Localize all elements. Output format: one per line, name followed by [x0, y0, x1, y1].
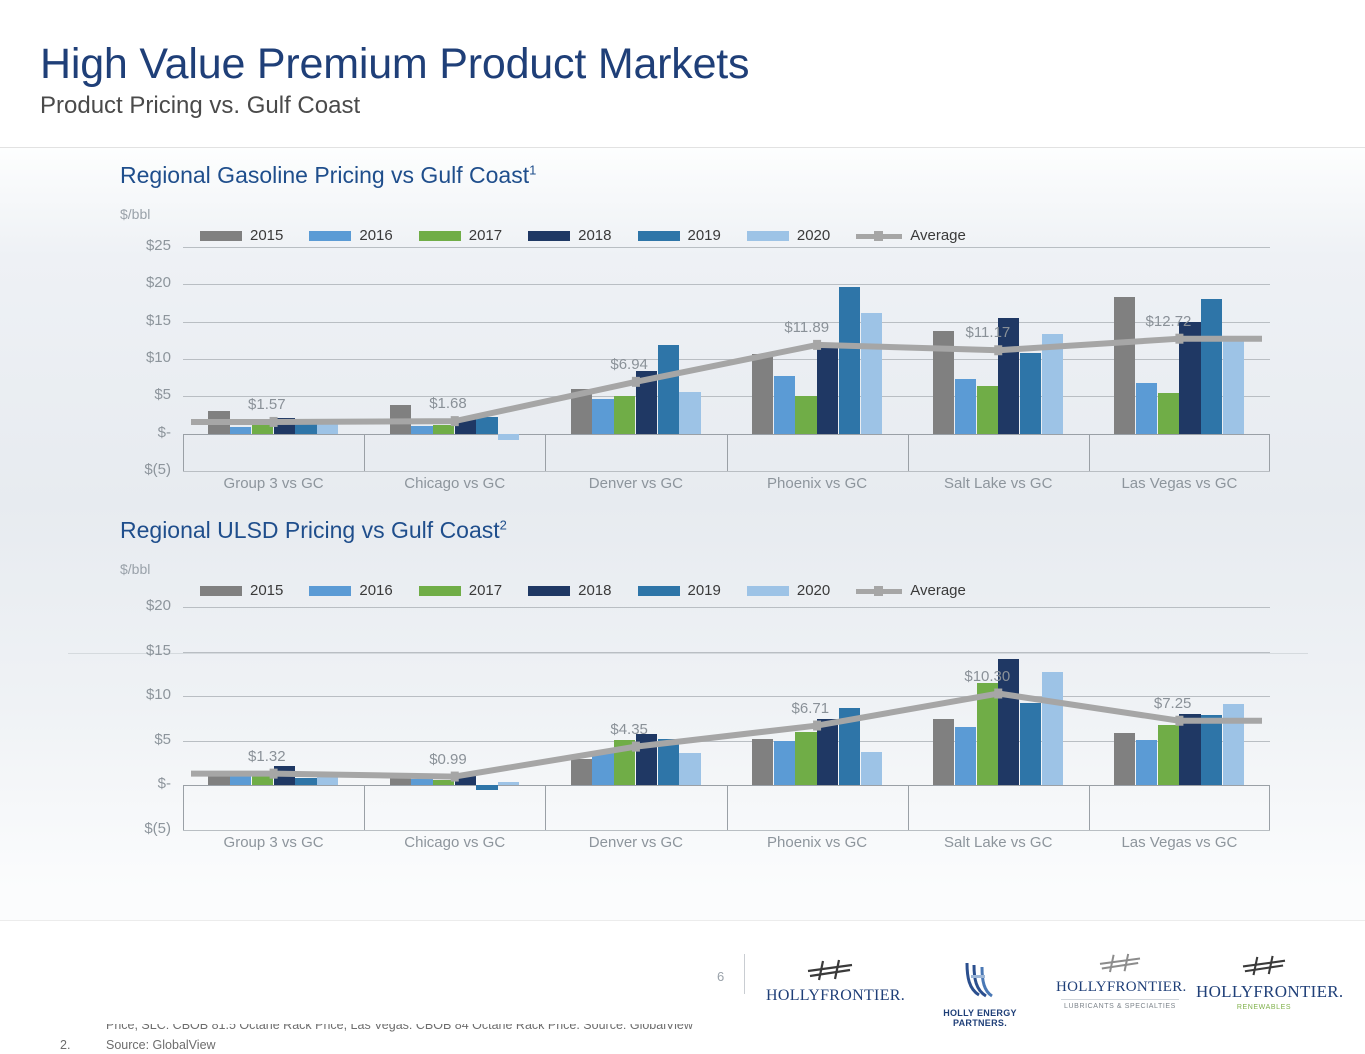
x-axis-category-label: Group 3 vs GC: [183, 834, 364, 851]
logo-wordmark: HOLLY ENERGY PARTNERS.: [924, 1008, 1036, 1028]
legend-swatch-icon: [528, 231, 570, 241]
x-axis-category-label: Phoenix vs GC: [727, 834, 908, 851]
y-axis-unit-gasoline: $/bbl: [120, 206, 150, 222]
legend-swatch-icon: [419, 231, 461, 241]
bar-2016-denver: [592, 399, 613, 433]
legend-swatch-icon: [638, 586, 680, 596]
legend-item-2017[interactable]: 2017: [419, 227, 502, 244]
logo-wordmark: HOLLYFRONTIER.: [1196, 982, 1332, 1002]
x-axis-category-label: Salt Lake vs GC: [908, 834, 1089, 851]
bar-2018-chicago: [455, 419, 476, 434]
page-number: 6: [717, 969, 724, 984]
bar-2018-group: [274, 766, 295, 786]
logo-subtext: RENEWABLES: [1196, 1004, 1332, 1011]
bar-2018-las: [1179, 714, 1200, 785]
bar-2020-group: [317, 777, 338, 785]
bar-2017-las: [1158, 725, 1179, 786]
average-value-label: $1.68: [395, 395, 467, 412]
bar-2018-denver: [636, 734, 657, 786]
bar-2015-group: [208, 411, 229, 433]
legend-item-2018[interactable]: 2018: [528, 227, 611, 244]
x-axis-tick: [364, 785, 365, 830]
bar-2017-salt: [977, 386, 998, 434]
legend-label: 2015: [250, 582, 283, 599]
y-axis-tick-label: $5: [105, 386, 171, 403]
y-axis-tick-label: $5: [105, 731, 171, 748]
gridline: [183, 652, 1270, 653]
logo-hollyfrontier-renewables: HOLLYFRONTIER. RENEWABLES: [1196, 955, 1332, 1011]
x-axis-category-label: Phoenix vs GC: [727, 475, 908, 492]
footnote-text: Source: GlobalView: [106, 1036, 1310, 1054]
hollyfrontier-mark-icon: [806, 959, 854, 981]
bar-2020-denver: [679, 753, 700, 785]
average-value-label: $0.99: [395, 751, 467, 768]
bar-2016-chicago: [411, 426, 432, 433]
gridline: [183, 741, 1270, 742]
x-axis-category-label: Las Vegas vs GC: [1089, 475, 1270, 492]
bar-2019-chicago: [476, 417, 497, 433]
bar-2017-group: [252, 776, 273, 786]
average-value-label: $1.32: [214, 748, 286, 765]
chart-title-ulsd: Regional ULSD Pricing vs Gulf Coast2: [120, 517, 507, 544]
legend-item-average[interactable]: Average: [856, 227, 966, 244]
bar-2018-group: [274, 418, 295, 434]
average-value-label: $6.71: [757, 700, 829, 717]
bar-2015-denver: [571, 759, 592, 786]
bar-2020-las: [1223, 337, 1244, 434]
bar-2018-denver: [636, 371, 657, 434]
x-axis-category-label: Group 3 vs GC: [183, 475, 364, 492]
chart-ulsd: Regional ULSD Pricing vs Gulf Coast2 $/b…: [0, 503, 1365, 843]
bar-2015-las: [1114, 733, 1135, 786]
bar-2016-salt: [955, 379, 976, 434]
legend-swatch-icon: [528, 586, 570, 596]
x-axis-tick: [183, 434, 184, 471]
page-subtitle: Product Pricing vs. Gulf Coast: [40, 92, 360, 120]
legend-swatch-icon: [200, 586, 242, 596]
chart-title-text: Regional ULSD Pricing vs Gulf Coast: [120, 517, 500, 543]
gridline: [183, 607, 1270, 608]
bar-2015-salt: [933, 331, 954, 433]
legend-label: 2018: [578, 582, 611, 599]
gridline: [183, 284, 1270, 285]
legend-label: 2017: [469, 227, 502, 244]
legend-swatch-icon: [309, 231, 351, 241]
legend-item-2020[interactable]: 2020: [747, 227, 830, 244]
y-axis-tick-label: $25: [105, 237, 171, 254]
bar-2019-salt: [1020, 353, 1041, 434]
logo-hollyfrontier-lubricants: HOLLYFRONTIER. LUBRICANTS & SPECIALTIES: [1056, 953, 1184, 1010]
x-axis-category-label: Denver vs GC: [545, 475, 726, 492]
bar-2015-salt: [933, 719, 954, 785]
x-axis-tick: [1269, 785, 1270, 830]
x-axis-category-label: Las Vegas vs GC: [1089, 834, 1270, 851]
footnote-number: 2.: [60, 1036, 106, 1054]
slide-footer: 6 HOLLYFRONTIER. HOLLY ENERGY PARTNERS.: [0, 920, 1365, 1024]
bar-2019-las: [1201, 715, 1222, 785]
legend-average-marker-icon: [856, 585, 902, 597]
y-axis-unit-ulsd: $/bbl: [120, 561, 150, 577]
x-axis-tick: [545, 434, 546, 471]
legend-label: 2018: [578, 227, 611, 244]
legend-average-marker-icon: [856, 230, 902, 242]
legend-item-2017[interactable]: 2017: [419, 582, 502, 599]
plot-area-ulsd: $20$15$10$5$-$(5)Group 3 vs GCChicago vs…: [183, 607, 1270, 830]
bar-2020-phoenix: [861, 752, 882, 785]
gridline: [183, 696, 1270, 697]
hollyfrontier-mark-icon: [1098, 953, 1142, 973]
bar-2020-salt: [1042, 672, 1063, 785]
chart-title-superscript: 2: [500, 517, 507, 532]
hep-mark-icon: [959, 959, 1001, 999]
legend-swatch-icon: [638, 231, 680, 241]
y-axis-tick-label: $20: [105, 597, 171, 614]
x-axis-tick: [545, 785, 546, 830]
average-value-label: $4.35: [576, 721, 648, 738]
plot-area-gasoline: $25$20$15$10$5$-$(5)Group 3 vs GCChicago…: [183, 247, 1270, 471]
y-axis-tick-label: $20: [105, 274, 171, 291]
x-axis-tick: [183, 785, 184, 830]
legend-item-2015[interactable]: 2015: [200, 582, 283, 599]
legend-swatch-icon: [747, 231, 789, 241]
legend-label: 2016: [359, 582, 392, 599]
bar-2020-group: [317, 423, 338, 433]
bar-2017-salt: [977, 683, 998, 786]
slide-header: High Value Premium Product Markets Produ…: [0, 0, 1365, 148]
y-axis-tick-label: $10: [105, 349, 171, 366]
bar-2016-phoenix: [774, 741, 795, 786]
bar-2016-group: [230, 427, 251, 434]
x-axis-tick: [1089, 785, 1090, 830]
legend-label: 2019: [688, 582, 721, 599]
gridline: [183, 396, 1270, 397]
legend-label: 2016: [359, 227, 392, 244]
legend-swatch-icon: [747, 586, 789, 596]
average-value-label: $12.72: [1119, 313, 1191, 330]
bar-2020-phoenix: [861, 313, 882, 433]
y-axis-tick-label: $-: [105, 775, 171, 792]
chart-title-superscript: 1: [529, 162, 536, 177]
legend-swatch-icon: [309, 586, 351, 596]
y-axis-tick-label: $15: [105, 312, 171, 329]
y-axis-tick-label: $10: [105, 686, 171, 703]
logo-hollyfrontier: HOLLYFRONTIER.: [766, 959, 894, 1005]
slide: High Value Premium Product Markets Produ…: [0, 0, 1365, 1024]
logo-rule: [1061, 999, 1179, 1000]
x-axis-tick: [908, 785, 909, 830]
logo-subtext: LUBRICANTS & SPECIALTIES: [1056, 1003, 1184, 1010]
bar-2019-chicago: [476, 785, 497, 789]
bar-2019-salt: [1020, 703, 1041, 785]
bar-2017-chicago: [433, 425, 454, 433]
bar-2018-las: [1179, 322, 1200, 434]
bar-2019-las: [1201, 299, 1222, 433]
logo-holly-energy-partners: HOLLY ENERGY PARTNERS.: [924, 959, 1036, 1028]
x-axis-category-label: Chicago vs GC: [364, 475, 545, 492]
average-value-label: $6.94: [576, 356, 648, 373]
legend-item-2016[interactable]: 2016: [309, 227, 392, 244]
legend-label: 2017: [469, 582, 502, 599]
chart-title-text: Regional Gasoline Pricing vs Gulf Coast: [120, 162, 529, 188]
bar-2018-phoenix: [817, 348, 838, 434]
legend-label: 2019: [688, 227, 721, 244]
legend-swatch-icon: [200, 231, 242, 241]
x-axis-tick: [364, 434, 365, 471]
legend-label: Average: [910, 227, 966, 244]
bar-2019-group: [295, 421, 316, 434]
logo-wordmark: HOLLYFRONTIER.: [766, 987, 894, 1005]
y-axis-tick-label: $(5): [105, 820, 171, 837]
bar-2015-group: [208, 774, 229, 786]
average-value-label: $10.30: [938, 668, 1010, 685]
chart-gasoline: Regional Gasoline Pricing vs Gulf Coast1…: [0, 148, 1365, 488]
legend-label: 2020: [797, 582, 830, 599]
x-axis-tick: [727, 434, 728, 471]
bar-2017-denver: [614, 396, 635, 434]
footnote-item: 2. Source: GlobalView: [60, 1036, 1310, 1054]
bar-2017-denver: [614, 740, 635, 785]
legend-item-2016[interactable]: 2016: [309, 582, 392, 599]
chart-title-gasoline: Regional Gasoline Pricing vs Gulf Coast1: [120, 162, 536, 189]
bar-2020-denver: [679, 392, 700, 434]
bar-2016-salt: [955, 727, 976, 786]
bar-2015-phoenix: [752, 354, 773, 434]
bar-2018-phoenix: [817, 719, 838, 786]
bar-2015-denver: [571, 389, 592, 434]
bar-2019-group: [295, 778, 316, 785]
slide-body: Regional Gasoline Pricing vs Gulf Coast1…: [0, 148, 1365, 920]
bar-2017-chicago: [433, 780, 454, 785]
average-value-label: $11.17: [938, 324, 1010, 341]
legend-gasoline: 201520162017201820192020Average: [200, 227, 966, 244]
bar-2018-chicago: [455, 774, 476, 786]
bar-2020-salt: [1042, 334, 1063, 434]
footer-divider: [744, 954, 745, 994]
bar-2017-phoenix: [795, 732, 816, 786]
average-value-label: $1.57: [214, 396, 286, 413]
legend-label: 2015: [250, 227, 283, 244]
bar-2016-phoenix: [774, 376, 795, 433]
x-axis-tick: [908, 434, 909, 471]
gridline: [183, 830, 1270, 831]
bar-2016-chicago: [411, 779, 432, 785]
legend-item-2015[interactable]: 2015: [200, 227, 283, 244]
gridline: [183, 322, 1270, 323]
legend-item-2020[interactable]: 2020: [747, 582, 830, 599]
x-axis-tick: [1089, 434, 1090, 471]
bar-2019-phoenix: [839, 287, 860, 434]
gridline: [183, 359, 1270, 360]
bar-2015-phoenix: [752, 739, 773, 785]
average-value-label: $11.89: [757, 319, 829, 336]
bar-2016-las: [1136, 383, 1157, 434]
page-title: High Value Premium Product Markets: [40, 40, 749, 89]
bar-2016-las: [1136, 740, 1157, 785]
bar-2017-las: [1158, 393, 1179, 434]
legend-item-average[interactable]: Average: [856, 582, 966, 599]
bar-2015-chicago: [390, 775, 411, 786]
legend-swatch-icon: [419, 586, 461, 596]
x-axis-category-label: Salt Lake vs GC: [908, 475, 1089, 492]
legend-item-2019[interactable]: 2019: [638, 582, 721, 599]
logo-wordmark: HOLLYFRONTIER.: [1056, 979, 1184, 996]
gridline: [183, 471, 1270, 472]
bar-2019-denver: [658, 739, 679, 785]
bar-2016-group: [230, 776, 251, 785]
bar-2017-phoenix: [795, 396, 816, 433]
y-axis-tick-label: $15: [105, 642, 171, 659]
legend-item-2019[interactable]: 2019: [638, 227, 721, 244]
bar-2019-phoenix: [839, 708, 860, 786]
y-axis-tick-label: $(5): [105, 461, 171, 478]
x-axis-category-label: Denver vs GC: [545, 834, 726, 851]
y-axis-tick-label: $-: [105, 424, 171, 441]
bar-2020-chicago: [498, 782, 519, 786]
legend-label: 2020: [797, 227, 830, 244]
bar-2016-denver: [592, 753, 613, 785]
bar-2017-group: [252, 424, 273, 434]
hollyfrontier-mark-icon: [1241, 955, 1287, 976]
legend-ulsd: 201520162017201820192020Average: [200, 582, 966, 599]
bar-2019-denver: [658, 345, 679, 434]
bar-2020-las: [1223, 704, 1244, 785]
x-axis-tick: [727, 785, 728, 830]
legend-item-2018[interactable]: 2018: [528, 582, 611, 599]
legend-label: Average: [910, 582, 966, 599]
average-value-label: $7.25: [1119, 695, 1191, 712]
x-axis-tick: [1269, 434, 1270, 471]
bar-2020-chicago: [498, 434, 519, 440]
x-axis-category-label: Chicago vs GC: [364, 834, 545, 851]
gridline: [183, 247, 1270, 248]
